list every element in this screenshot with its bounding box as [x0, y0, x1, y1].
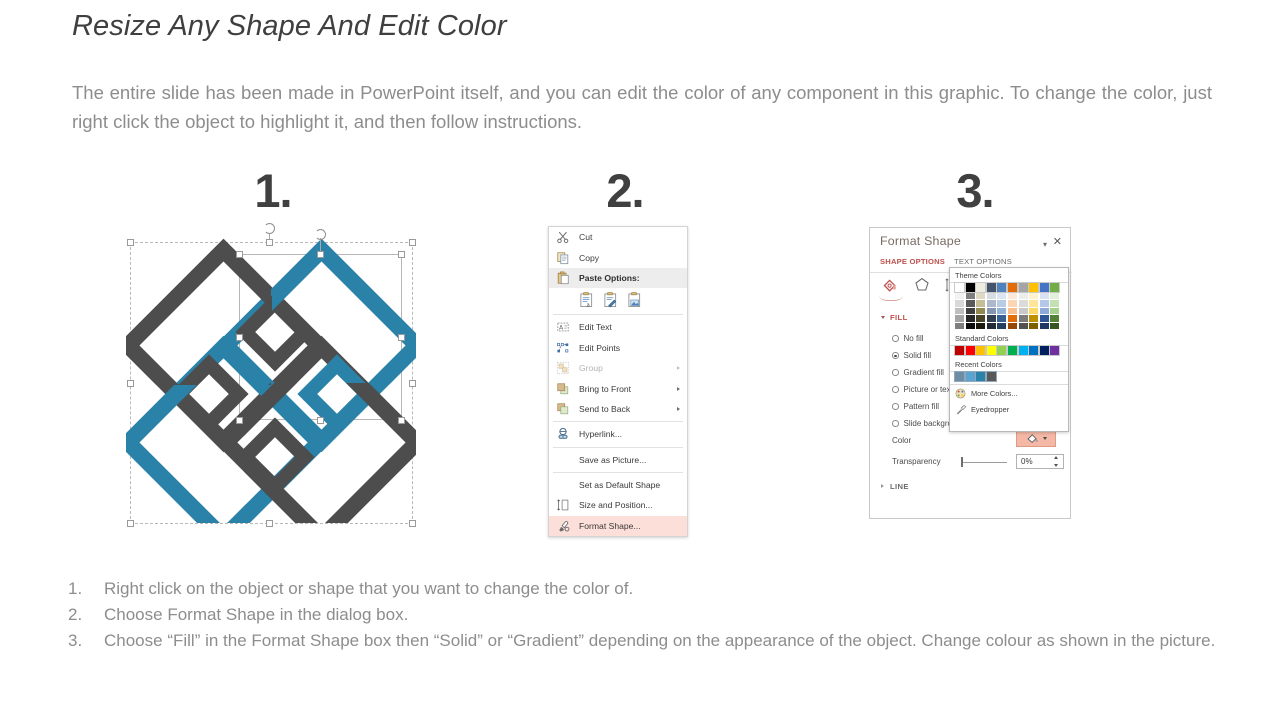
- section-collapse-icon[interactable]: [881, 484, 884, 488]
- step-number-1: 1.: [178, 163, 368, 218]
- theme-color-shade-swatch[interactable]: [997, 300, 1006, 307]
- theme-color-shade-swatch[interactable]: [1019, 293, 1028, 300]
- theme-color-shade-swatch[interactable]: [966, 308, 975, 315]
- resize-handle-inner-nw[interactable]: [236, 251, 243, 258]
- theme-color-shade-swatch[interactable]: [1019, 315, 1028, 322]
- standard-color-swatch[interactable]: [987, 346, 996, 355]
- resize-handle-inner-se[interactable]: [398, 417, 405, 424]
- standard-colors-label: Standard Colors: [950, 331, 1068, 345]
- recent-colors-label: Recent Colors: [950, 358, 1068, 372]
- theme-color-column-1[interactable]: [966, 283, 975, 330]
- theme-color-shade-swatch[interactable]: [987, 323, 996, 330]
- list-item-number: 2.: [68, 602, 104, 628]
- list-item-number: 3.: [68, 628, 104, 654]
- recent-color-swatch[interactable]: [966, 372, 975, 381]
- menu-item-label: Format Shape...: [579, 521, 641, 531]
- line-section-label: LINE: [890, 482, 909, 491]
- menu-separator: [553, 447, 683, 448]
- more-colors-icon: [955, 388, 966, 399]
- theme-color-shade-swatch[interactable]: [1050, 300, 1059, 307]
- menu-item-label: Set as Default Shape: [579, 480, 660, 490]
- menu-item-label: Paste Options:: [579, 273, 640, 283]
- step-number-2: 2.: [530, 163, 720, 218]
- resize-handle-outer-w[interactable]: [127, 380, 134, 387]
- instructions-list: 1. Right click on the object or shape th…: [68, 576, 1273, 654]
- resize-handle-inner-sw[interactable]: [236, 417, 243, 424]
- theme-color-column-6[interactable]: [1019, 283, 1028, 330]
- paste-icon: [556, 271, 570, 285]
- radio-marker: [892, 403, 899, 410]
- send-to-back-icon: [556, 402, 570, 416]
- chevron-down-icon[interactable]: ▾: [1043, 240, 1047, 249]
- theme-color-shade-swatch[interactable]: [997, 315, 1006, 322]
- theme-color-swatch[interactable]: [955, 283, 964, 292]
- menu-item-save-as-picture[interactable]: Save as Picture...: [549, 450, 687, 470]
- color-label: Color: [892, 436, 911, 445]
- resize-handle-outer-se[interactable]: [409, 520, 416, 527]
- tab-text-options[interactable]: TEXT OPTIONS: [954, 257, 1012, 266]
- resize-handle-outer-e[interactable]: [409, 380, 416, 387]
- chevron-down-icon[interactable]: [1043, 437, 1047, 440]
- theme-color-shade-swatch[interactable]: [1029, 308, 1038, 315]
- list-item-text: Choose Format Shape in the dialog box.: [104, 602, 1273, 628]
- copy-icon: [556, 251, 570, 265]
- radio-no-fill[interactable]: No fill: [892, 334, 924, 343]
- transparency-label: Transparency: [892, 457, 941, 466]
- theme-color-swatch[interactable]: [1050, 283, 1059, 292]
- theme-color-swatch[interactable]: [997, 283, 1006, 292]
- theme-color-shade-swatch[interactable]: [1019, 308, 1028, 315]
- theme-color-shade-swatch[interactable]: [1050, 323, 1059, 330]
- transparency-stepper[interactable]: [1052, 456, 1060, 467]
- theme-color-shade-swatch[interactable]: [1029, 323, 1038, 330]
- fill-line-icon[interactable]: [881, 276, 901, 294]
- resize-handle-inner-w[interactable]: [236, 334, 243, 341]
- stepper-up-icon[interactable]: [1054, 456, 1058, 459]
- standard-color-swatch[interactable]: [997, 346, 1006, 355]
- theme-color-shade-swatch[interactable]: [987, 315, 996, 322]
- theme-color-shade-swatch[interactable]: [1050, 293, 1059, 300]
- theme-color-shade-swatch[interactable]: [987, 293, 996, 300]
- theme-color-shade-swatch[interactable]: [1029, 315, 1038, 322]
- action-label: Eyedropper: [971, 405, 1009, 414]
- theme-color-column-8[interactable]: [1040, 283, 1049, 330]
- theme-color-shade-swatch[interactable]: [1008, 323, 1017, 330]
- standard-color-swatch[interactable]: [955, 346, 964, 355]
- menu-item-label: Cut: [579, 232, 592, 242]
- standard-color-swatch[interactable]: [966, 346, 975, 355]
- theme-color-column-7[interactable]: [1029, 283, 1038, 330]
- standard-color-swatch[interactable]: [976, 346, 985, 355]
- radio-label: Pattern fill: [904, 402, 940, 411]
- theme-color-column-2[interactable]: [976, 283, 985, 330]
- theme-color-column-0[interactable]: [955, 283, 964, 330]
- theme-color-shade-swatch[interactable]: [955, 315, 964, 322]
- context-menu[interactable]: Cut Copy Paste Options: a: [548, 226, 688, 537]
- menu-item-label: Size and Position...: [579, 500, 653, 510]
- theme-color-column-4[interactable]: [997, 283, 1006, 330]
- theme-color-shade-swatch[interactable]: [1040, 323, 1049, 330]
- standard-color-swatch[interactable]: [1019, 346, 1028, 355]
- radio-gradient-fill[interactable]: Gradient fill: [892, 368, 944, 377]
- theme-color-shade-swatch[interactable]: [966, 315, 975, 322]
- theme-color-shade-swatch[interactable]: [966, 323, 975, 330]
- theme-color-swatch[interactable]: [987, 283, 996, 292]
- edit-text-icon: A: [556, 320, 570, 334]
- radio-marker: [892, 386, 899, 393]
- recent-color-swatch[interactable]: [987, 372, 996, 381]
- radio-label: Solid fill: [904, 351, 932, 360]
- action-label: More Colors...: [971, 389, 1017, 398]
- rotation-handle-1[interactable]: [264, 223, 275, 234]
- resize-handle-outer-nw[interactable]: [127, 239, 134, 246]
- theme-color-swatch[interactable]: [966, 283, 975, 292]
- theme-color-shade-swatch[interactable]: [955, 300, 964, 307]
- menu-item-label: Edit Text: [579, 322, 612, 332]
- standard-color-swatch[interactable]: [1029, 346, 1038, 355]
- menu-item-paste-options: Paste Options:: [549, 268, 687, 288]
- menu-separator: [553, 314, 683, 315]
- resize-handle-outer-n[interactable]: [266, 239, 273, 246]
- theme-color-shade-swatch[interactable]: [1029, 293, 1038, 300]
- menu-item-set-as-default-shape[interactable]: Set as Default Shape: [549, 475, 687, 495]
- tab-shape-options[interactable]: SHAPE OPTIONS: [880, 257, 945, 266]
- recent-color-swatch[interactable]: [955, 372, 964, 381]
- theme-color-shade-swatch[interactable]: [997, 293, 1006, 300]
- resize-handle-outer-ne[interactable]: [409, 239, 416, 246]
- more-colors-action[interactable]: More Colors...: [950, 385, 1068, 401]
- theme-color-shade-swatch[interactable]: [976, 323, 985, 330]
- rotation-handle-2[interactable]: [315, 229, 326, 240]
- list-item-text: Right click on the object or shape that …: [104, 576, 1273, 602]
- menu-item-bring-to-front[interactable]: Bring to Front: [549, 378, 687, 398]
- fill-color-button[interactable]: [1016, 430, 1056, 447]
- theme-colors-grid[interactable]: [950, 283, 1068, 332]
- recent-colors-row[interactable]: [950, 372, 1068, 384]
- effects-icon[interactable]: [912, 276, 932, 294]
- bring-to-front-icon: [556, 382, 570, 396]
- resize-handle-inner-s[interactable]: [317, 417, 324, 424]
- theme-color-shade-swatch[interactable]: [966, 293, 975, 300]
- menu-item-group: Group: [549, 358, 687, 378]
- theme-color-shade-swatch[interactable]: [1008, 315, 1017, 322]
- theme-color-swatch[interactable]: [1029, 283, 1038, 292]
- transparency-slider-track[interactable]: [963, 462, 1007, 463]
- standard-color-swatch[interactable]: [1040, 346, 1049, 355]
- menu-item-label: Edit Points: [579, 343, 620, 353]
- list-item: 2. Choose Format Shape in the dialog box…: [68, 602, 1273, 628]
- theme-color-swatch[interactable]: [1008, 283, 1017, 292]
- theme-color-shade-swatch[interactable]: [1040, 300, 1049, 307]
- interlocking-diamonds-icon: [126, 233, 416, 523]
- theme-color-column-3[interactable]: [987, 283, 996, 330]
- size-position-icon: [556, 498, 570, 512]
- section-expand-icon[interactable]: [881, 316, 885, 319]
- theme-color-shade-swatch[interactable]: [1008, 300, 1017, 307]
- paste-keep-formatting-icon[interactable]: a: [579, 292, 594, 308]
- submenu-arrow-icon: [677, 407, 680, 411]
- theme-color-shade-swatch[interactable]: [1040, 308, 1049, 315]
- transparency-input[interactable]: 0%: [1016, 454, 1064, 469]
- color-picker-dropdown[interactable]: Theme Colors Standard Colors Recent Colo…: [949, 267, 1069, 432]
- theme-color-shade-swatch[interactable]: [976, 300, 985, 307]
- theme-color-shade-swatch[interactable]: [976, 308, 985, 315]
- theme-color-shade-swatch[interactable]: [966, 300, 975, 307]
- eyedropper-icon: [955, 404, 966, 415]
- radio-label: Gradient fill: [904, 368, 944, 377]
- theme-color-shade-swatch[interactable]: [1008, 308, 1017, 315]
- transparency-value: 0%: [1021, 457, 1033, 466]
- menu-item-send-to-back[interactable]: Send to Back: [549, 399, 687, 419]
- menu-separator: [553, 472, 683, 473]
- theme-color-shade-swatch[interactable]: [1029, 300, 1038, 307]
- list-item-text: Choose “Fill” in the Format Shape box th…: [104, 628, 1273, 654]
- theme-color-shade-swatch[interactable]: [976, 293, 985, 300]
- resize-handle-outer-s[interactable]: [266, 520, 273, 527]
- hyperlink-icon: [556, 427, 570, 441]
- active-tab-underline: [879, 296, 903, 301]
- stepper-down-icon[interactable]: [1054, 464, 1058, 467]
- menu-item-format-shape[interactable]: Format Shape...: [549, 516, 687, 536]
- scissors-icon: [556, 230, 570, 244]
- menu-item-label: Save as Picture...: [579, 455, 646, 465]
- theme-color-shade-swatch[interactable]: [1019, 323, 1028, 330]
- page-subtitle: The entire slide has been made in PowerP…: [72, 78, 1212, 136]
- theme-color-shade-swatch[interactable]: [997, 323, 1006, 330]
- theme-color-swatch[interactable]: [1040, 283, 1049, 292]
- theme-color-shade-swatch[interactable]: [1008, 293, 1017, 300]
- radio-marker: [892, 420, 899, 427]
- resize-handle-inner-ne[interactable]: [398, 251, 405, 258]
- theme-color-swatch[interactable]: [1019, 283, 1028, 292]
- theme-color-shade-swatch[interactable]: [1050, 315, 1059, 322]
- standard-color-swatch[interactable]: [1050, 346, 1059, 355]
- theme-color-shade-swatch[interactable]: [955, 323, 964, 330]
- submenu-arrow-icon: [677, 366, 680, 370]
- paste-picture-icon[interactable]: [627, 292, 642, 308]
- theme-color-shade-swatch[interactable]: [1019, 300, 1028, 307]
- radio-label: No fill: [904, 334, 924, 343]
- radio-solid-fill[interactable]: Solid fill: [892, 351, 931, 360]
- menu-item-label: Hyperlink...: [579, 429, 622, 439]
- theme-color-shade-swatch[interactable]: [987, 308, 996, 315]
- group-icon: [556, 361, 570, 375]
- menu-item-edit-text[interactable]: A Edit Text: [549, 317, 687, 337]
- menu-item-label: Group: [579, 363, 603, 373]
- radio-pattern-fill[interactable]: Pattern fill: [892, 402, 939, 411]
- standard-color-swatch[interactable]: [1008, 346, 1017, 355]
- menu-item-label: Copy: [579, 253, 599, 263]
- resize-handle-outer-sw[interactable]: [127, 520, 134, 527]
- theme-color-shade-swatch[interactable]: [997, 308, 1006, 315]
- diamond-graphic[interactable]: [126, 233, 416, 523]
- theme-color-column-9[interactable]: [1050, 283, 1059, 330]
- theme-color-shade-swatch[interactable]: [955, 308, 964, 315]
- menu-item-label: Send to Back: [579, 404, 630, 414]
- menu-item-hyperlink[interactable]: Hyperlink...: [549, 424, 687, 444]
- theme-color-swatch[interactable]: [976, 283, 985, 292]
- format-shape-title: Format Shape: [880, 234, 961, 248]
- radio-marker: [892, 369, 899, 376]
- eyedropper-action[interactable]: Eyedropper: [950, 402, 1068, 418]
- submenu-arrow-icon: [677, 387, 680, 391]
- standard-colors-row[interactable]: [950, 346, 1068, 358]
- recent-color-swatch[interactable]: [976, 372, 985, 381]
- fill-color-icon: [1025, 432, 1040, 445]
- theme-colors-label: Theme Colors: [950, 268, 1068, 282]
- menu-item-copy[interactable]: Copy: [549, 247, 687, 267]
- menu-separator: [553, 421, 683, 422]
- menu-item-label: Bring to Front: [579, 384, 631, 394]
- theme-color-shade-swatch[interactable]: [1040, 315, 1049, 322]
- list-item: 1. Right click on the object or shape th…: [68, 576, 1273, 602]
- edit-points-icon: [556, 341, 570, 355]
- step-number-3: 3.: [880, 163, 1070, 218]
- radio-marker: [892, 335, 899, 342]
- resize-handle-inner-n[interactable]: [317, 251, 324, 258]
- theme-color-column-5[interactable]: [1008, 283, 1017, 330]
- resize-handle-inner-e[interactable]: [398, 334, 405, 341]
- page-title: Resize Any Shape And Edit Color: [72, 10, 507, 43]
- transparency-slider-knob[interactable]: [961, 457, 963, 467]
- fill-section-label: FILL: [890, 313, 908, 322]
- svg-text:a: a: [587, 303, 590, 309]
- close-icon[interactable]: ✕: [1053, 235, 1062, 248]
- theme-color-shade-swatch[interactable]: [955, 293, 964, 300]
- theme-color-shade-swatch[interactable]: [976, 315, 985, 322]
- format-shape-icon: [556, 519, 570, 533]
- list-item-number: 1.: [68, 576, 104, 602]
- menu-item-edit-points[interactable]: Edit Points: [549, 338, 687, 358]
- list-item: 3. Choose “Fill” in the Format Shape box…: [68, 628, 1273, 654]
- paste-use-theme-icon[interactable]: [603, 292, 618, 308]
- theme-color-shade-swatch[interactable]: [1050, 308, 1059, 315]
- menu-item-size-and-position[interactable]: Size and Position...: [549, 495, 687, 515]
- radio-marker: [892, 352, 899, 359]
- theme-color-shade-swatch[interactable]: [987, 300, 996, 307]
- theme-color-shade-swatch[interactable]: [1040, 293, 1049, 300]
- menu-item-cut[interactable]: Cut: [549, 227, 687, 247]
- paste-options-row[interactable]: a: [549, 288, 687, 312]
